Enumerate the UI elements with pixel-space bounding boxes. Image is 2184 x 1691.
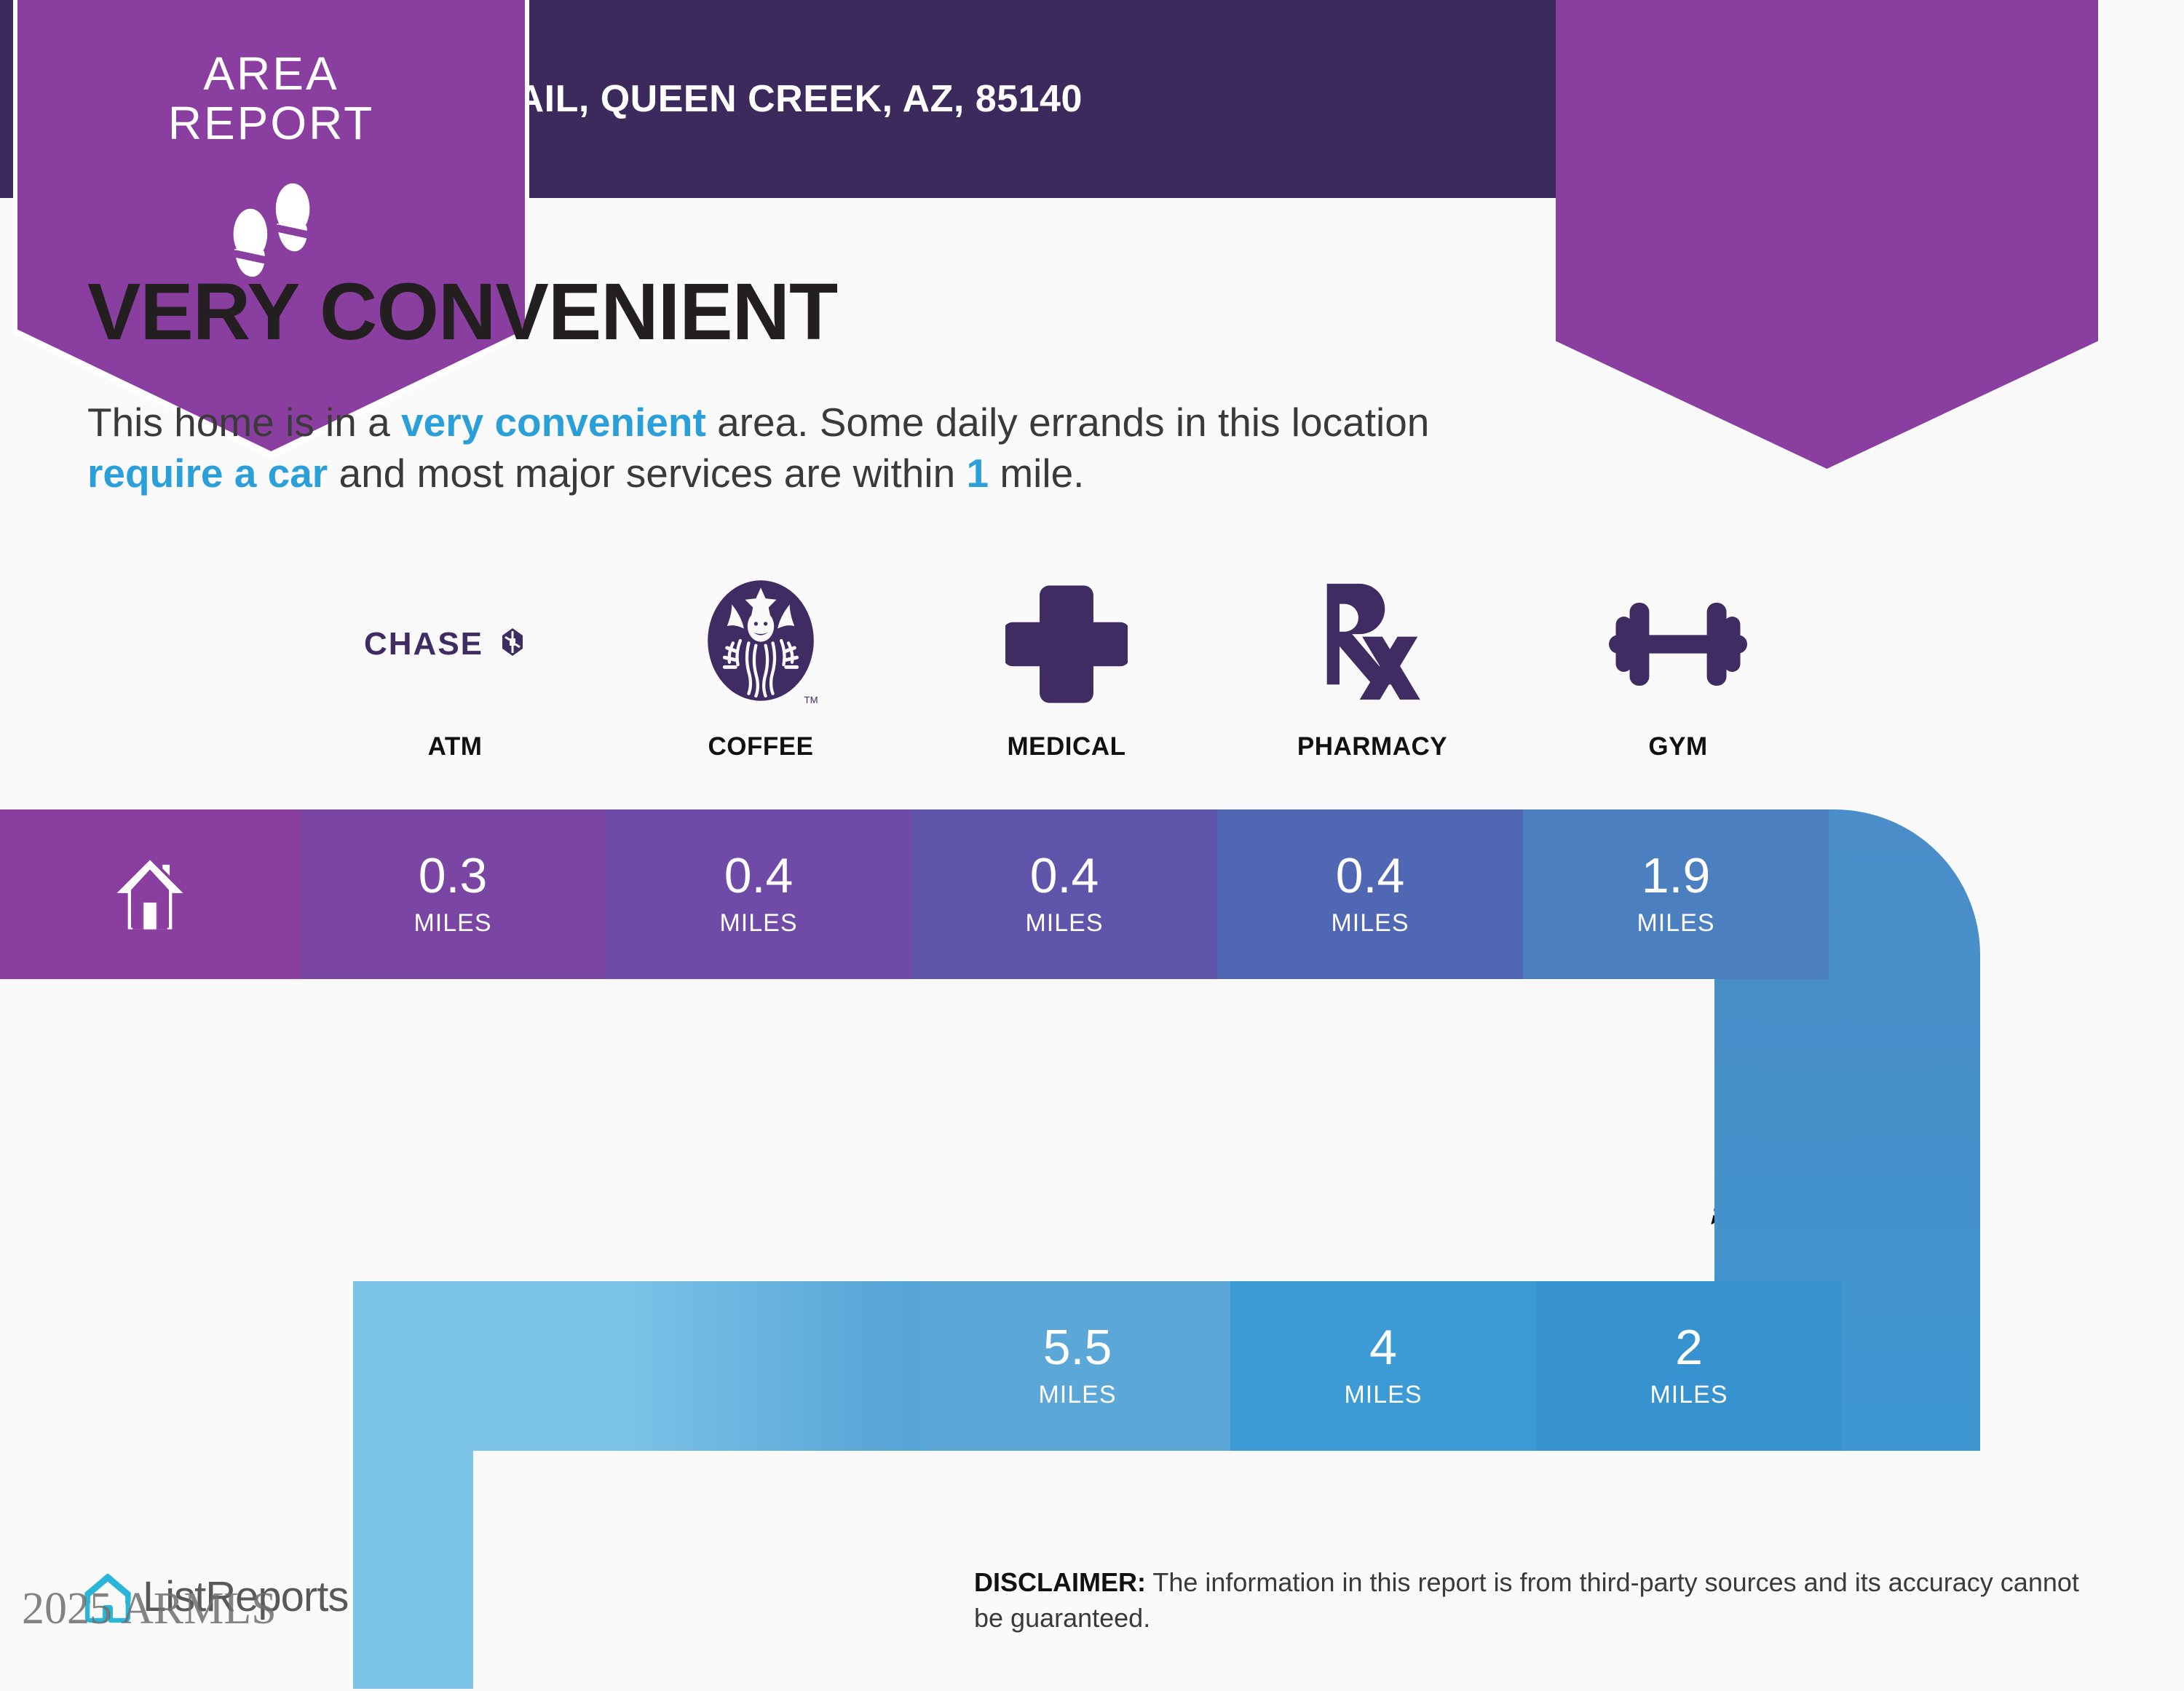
distance-unit: MILES xyxy=(1038,1381,1116,1409)
distance-unit: MILES xyxy=(1650,1381,1728,1409)
distance-value: 2 xyxy=(1675,1323,1703,1372)
svg-text:CHASE: CHASE xyxy=(364,626,483,662)
badge-shape xyxy=(1556,0,2098,469)
distance-cell-pharmacy: 0.4 MILES xyxy=(1217,809,1523,979)
home-origin-cell xyxy=(0,809,300,979)
distance-bar-row-bottom: 5.5 MILES 4 MILES 2 MILES xyxy=(925,1281,1842,1451)
chase-logo-icon: CHASE xyxy=(364,575,546,713)
distance-cell-cleaners: 4 MILES xyxy=(1230,1281,1536,1451)
amenity-label: ATM xyxy=(428,732,483,761)
distance-value: 5.5 xyxy=(1043,1323,1112,1372)
distance-cell-atm: 0.3 MILES xyxy=(300,809,606,979)
disclaimer-label: DISCLAIMER: xyxy=(974,1567,1146,1597)
footprints-icon xyxy=(217,179,326,296)
amenity-label: COFFEE xyxy=(708,732,814,761)
ribbon-inner-notch-top xyxy=(0,979,1714,1281)
distance-value: 4 xyxy=(1369,1323,1397,1372)
amenity-label: MEDICAL xyxy=(1008,732,1126,761)
starbucks-siren-icon: TM xyxy=(700,575,822,713)
svg-text:TM: TM xyxy=(804,694,818,705)
medical-cross-icon xyxy=(1005,575,1128,713)
amenity-label: GYM xyxy=(1648,732,1707,761)
dumbbell-icon xyxy=(1609,575,1747,713)
amenity-label: PHARMACY xyxy=(1297,732,1447,761)
home-icon xyxy=(110,857,190,932)
badge-title-line2: REPORT xyxy=(168,99,375,148)
distance-unit: MILES xyxy=(414,909,491,938)
amenity-gym: GYM xyxy=(1525,575,1831,761)
distance-value: 1.9 xyxy=(1642,851,1711,900)
distance-unit: MILES xyxy=(719,909,797,938)
distance-cell-gym: 1.9 MILES xyxy=(1523,809,1829,979)
amenity-coffee: TM COFFEE xyxy=(608,575,914,761)
rx-icon xyxy=(1318,575,1427,713)
summary-part2: area. Some daily errands in this locatio… xyxy=(706,400,1430,445)
distance-value: 0.4 xyxy=(1030,851,1099,900)
summary-highlight-miles: 1 xyxy=(966,451,989,496)
distance-unit: MILES xyxy=(1637,909,1714,938)
amenity-medical: MEDICAL xyxy=(914,575,1219,761)
distance-unit: MILES xyxy=(1025,909,1103,938)
distance-cell-gas: 2 MILES xyxy=(1536,1281,1842,1451)
distance-cell-medical: 0.4 MILES xyxy=(911,809,1217,979)
amenity-icon-row-top: CHASE ATM xyxy=(302,575,1831,761)
distance-cell-movie-theater: 5.5 MILES xyxy=(925,1281,1230,1451)
distance-value: 0.4 xyxy=(724,851,794,900)
armls-watermark: 2025 ARMLS xyxy=(22,1583,277,1635)
disclaimer: DISCLAIMER: The information in this repo… xyxy=(974,1565,2110,1636)
distance-bar-row-top: 0.3 MILES 0.4 MILES 0.4 MILES 0.4 MILES … xyxy=(0,809,1829,979)
distance-unit: MILES xyxy=(1344,1381,1422,1409)
distance-unit: MILES xyxy=(1331,909,1409,938)
distance-value: 0.4 xyxy=(1336,851,1405,900)
distance-value: 0.3 xyxy=(419,851,488,900)
ribbon-left-descent xyxy=(353,1281,473,1689)
distance-cell-coffee: 0.4 MILES xyxy=(606,809,911,979)
summary-part4: mile. xyxy=(989,451,1084,496)
amenity-atm: CHASE ATM xyxy=(302,575,608,761)
distance-ribbon: 0.3 MILES 0.4 MILES 0.4 MILES 0.4 MILES … xyxy=(0,801,2184,1689)
amenity-pharmacy: PHARMACY xyxy=(1219,575,1525,761)
badge-title-line1: AREA xyxy=(203,49,339,99)
